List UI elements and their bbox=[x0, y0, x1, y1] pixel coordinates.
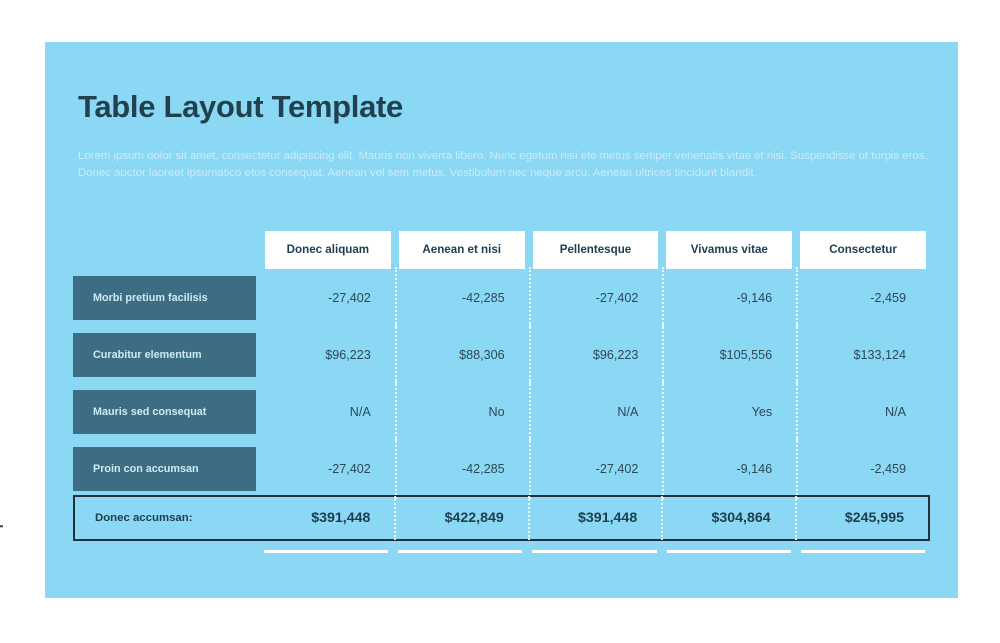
table-cell: $88,306 bbox=[395, 326, 529, 383]
row-label-cell: Morbi pretium facilisis bbox=[73, 269, 261, 326]
table-header-cell: Aenean et nisi bbox=[395, 231, 529, 269]
total-row-label: Donec accumsan: bbox=[95, 512, 193, 524]
table-header-cell: Donec aliquam bbox=[261, 231, 395, 269]
total-cell: $391,448 bbox=[261, 497, 394, 539]
table-cell: N/A bbox=[529, 383, 663, 440]
underline-spacer bbox=[73, 550, 259, 553]
row-label: Mauris sed consequat bbox=[73, 390, 256, 434]
underline-bar bbox=[667, 550, 791, 553]
column-header-label: Vivamus vitae bbox=[666, 231, 792, 269]
total-cell: $304,864 bbox=[661, 497, 794, 539]
table-cell: Yes bbox=[662, 383, 796, 440]
table-row: Curabitur elementum $96,223 $88,306 $96,… bbox=[73, 326, 930, 383]
row-label: Morbi pretium facilisis bbox=[73, 276, 256, 320]
column-header-label: Consectetur bbox=[800, 231, 926, 269]
table-cell: $96,223 bbox=[529, 326, 663, 383]
table-header-row: Donec aliquam Aenean et nisi Pellentesqu… bbox=[73, 231, 930, 269]
table-cell: -27,402 bbox=[261, 440, 395, 497]
table-cell: -27,402 bbox=[529, 440, 663, 497]
row-label-cell: Curabitur elementum bbox=[73, 326, 261, 383]
table-cell: -9,146 bbox=[662, 440, 796, 497]
table-row: Morbi pretium facilisis -27,402 -42,285 … bbox=[73, 269, 930, 326]
underline-bar bbox=[801, 550, 925, 553]
table-header-cell: Pellentesque bbox=[529, 231, 663, 269]
underline-slot bbox=[796, 550, 930, 553]
slide-canvas: Table Layout Template Lorem ipsum dolor … bbox=[45, 42, 958, 598]
row-label: Curabitur elementum bbox=[73, 333, 256, 377]
row-label: Proin con accumsan bbox=[73, 447, 256, 491]
total-cell: $245,995 bbox=[795, 497, 928, 539]
page-title: Table Layout Template bbox=[78, 89, 403, 125]
table-cell: -42,285 bbox=[395, 440, 529, 497]
table-cell: -27,402 bbox=[261, 269, 395, 326]
page-description: Lorem ipsum dolor sit amet, consectetur … bbox=[78, 148, 938, 182]
column-header-label: Pellentesque bbox=[533, 231, 659, 269]
underline-slot bbox=[259, 550, 393, 553]
total-cell: $391,448 bbox=[528, 497, 661, 539]
stock-watermark-rail: Adobe Stock | #394643325 bbox=[0, 0, 45, 643]
column-header-label: Aenean et nisi bbox=[399, 231, 525, 269]
underline-bar bbox=[264, 550, 388, 553]
table-header-cell: Consectetur bbox=[796, 231, 930, 269]
table-header-cell: Vivamus vitae bbox=[662, 231, 796, 269]
table-cell: N/A bbox=[796, 383, 930, 440]
column-header-label: Donec aliquam bbox=[265, 231, 391, 269]
table-cell: $133,124 bbox=[796, 326, 930, 383]
table-cell: -9,146 bbox=[662, 269, 796, 326]
column-underline-bars bbox=[73, 550, 930, 553]
underline-bar bbox=[532, 550, 656, 553]
table-cell: -2,459 bbox=[796, 269, 930, 326]
underline-slot bbox=[662, 550, 796, 553]
row-label-cell: Mauris sed consequat bbox=[73, 383, 261, 440]
total-label-cell: Donec accumsan: bbox=[75, 497, 261, 539]
table-cell: $105,556 bbox=[662, 326, 796, 383]
underline-slot bbox=[527, 550, 661, 553]
table-cell: -2,459 bbox=[796, 440, 930, 497]
table-cell: N/A bbox=[261, 383, 395, 440]
table-row: Mauris sed consequat N/A No N/A Yes N/A bbox=[73, 383, 930, 440]
underline-slot bbox=[393, 550, 527, 553]
header-corner-cell bbox=[73, 231, 261, 269]
total-cell: $422,849 bbox=[394, 497, 527, 539]
row-label-cell: Proin con accumsan bbox=[73, 440, 261, 497]
table-cell: -27,402 bbox=[529, 269, 663, 326]
data-table: Donec aliquam Aenean et nisi Pellentesqu… bbox=[73, 231, 930, 497]
table-cell: No bbox=[395, 383, 529, 440]
underline-bar bbox=[398, 550, 522, 553]
table-cell: -42,285 bbox=[395, 269, 529, 326]
stock-watermark-label: Adobe Stock | #394643325 bbox=[0, 249, 4, 629]
table-total-row: Donec accumsan: $391,448 $422,849 $391,4… bbox=[73, 495, 930, 541]
table-cell: $96,223 bbox=[261, 326, 395, 383]
table-row: Proin con accumsan -27,402 -42,285 -27,4… bbox=[73, 440, 930, 497]
